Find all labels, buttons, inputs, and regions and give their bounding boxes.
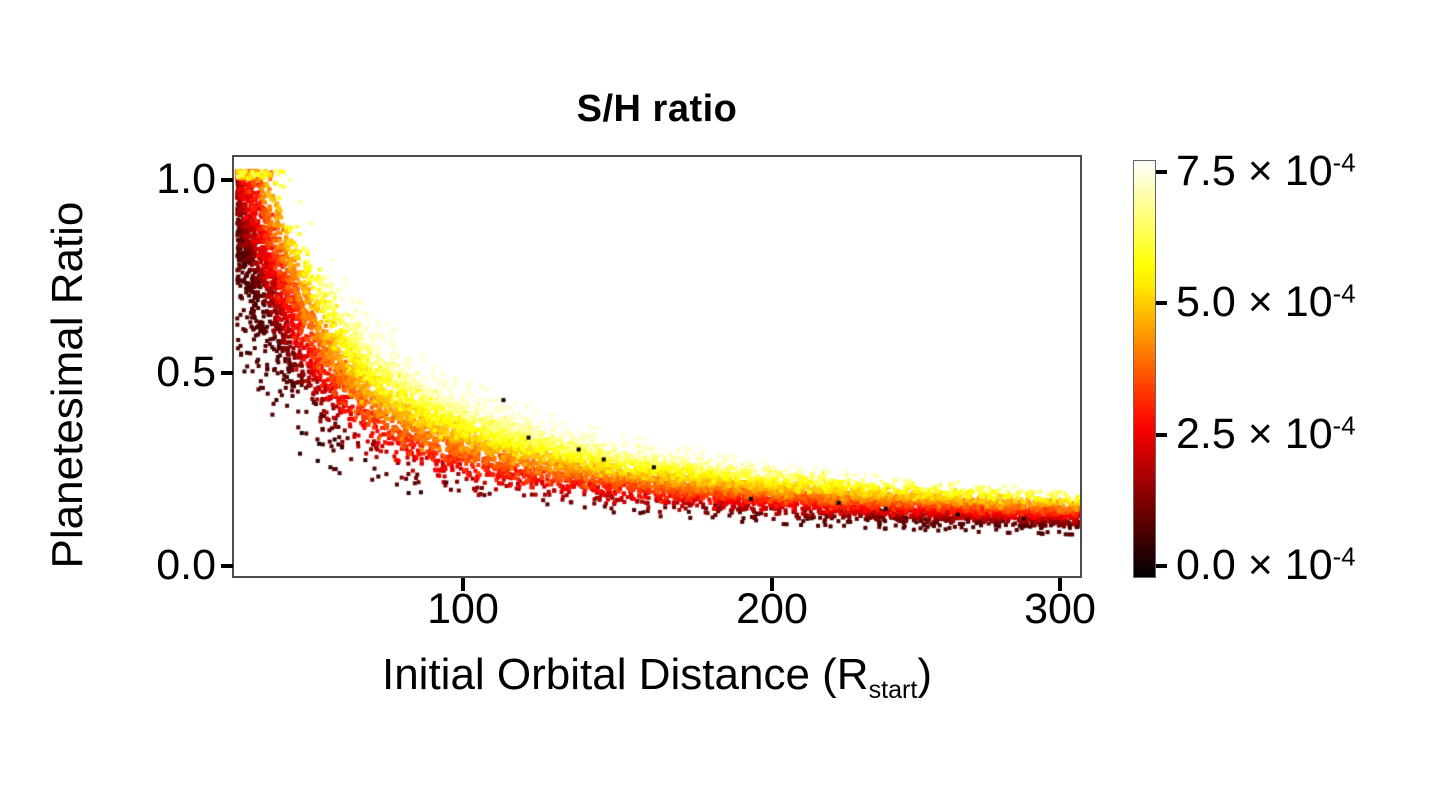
x-axis-label-subscript: start <box>869 676 918 704</box>
ytick-label-2: 0.5 <box>156 351 216 394</box>
colorbar-tick-label-4: 0.0 × 10-4 <box>1176 544 1356 587</box>
x-axis-label-main: Initial Orbital Distance (R <box>382 650 869 699</box>
page-title: S/H ratio <box>232 88 1082 131</box>
figure-canvas: S/H ratio 1.0 0.5 0.0 Planetesimal Ratio… <box>0 0 1440 810</box>
xtick-label-2: 200 <box>702 588 842 631</box>
colorbar-exponent-1: -4 <box>1333 150 1356 178</box>
colorbar-label-text-1: 7.5 × 10 <box>1176 147 1333 195</box>
scatter-plot-canvas <box>234 157 1080 576</box>
colorbar-exponent-4: -4 <box>1333 544 1356 572</box>
colorbar-tick-mark-1 <box>1156 170 1167 174</box>
ytick-label-3: 0.0 <box>156 544 216 587</box>
colorbar-gradient <box>1133 160 1156 578</box>
colorbar-label-text-2: 5.0 × 10 <box>1176 278 1333 326</box>
x-axis-label-tail: ) <box>917 650 932 699</box>
ytick-mark-1 <box>221 178 233 182</box>
xtick-label-1: 100 <box>393 588 533 631</box>
ytick-mark-3 <box>221 564 233 568</box>
colorbar-label-text-3: 2.5 × 10 <box>1176 410 1333 458</box>
colorbar-tick-mark-4 <box>1156 564 1167 568</box>
ytick-label-1: 1.0 <box>156 158 216 201</box>
colorbar <box>1133 160 1156 578</box>
colorbar-tick-label-3: 2.5 × 10-4 <box>1176 413 1356 456</box>
plot-axes-frame <box>232 155 1082 578</box>
colorbar-label-text-4: 0.0 × 10 <box>1176 541 1333 589</box>
colorbar-exponent-3: -4 <box>1333 413 1356 441</box>
ytick-mark-2 <box>221 371 233 375</box>
y-axis-label: Planetesimal Ratio <box>43 105 93 665</box>
colorbar-tick-label-1: 7.5 × 10-4 <box>1176 150 1356 193</box>
xtick-label-3: 300 <box>990 588 1130 631</box>
colorbar-exponent-2: -4 <box>1333 281 1356 309</box>
colorbar-tick-mark-2 <box>1156 301 1167 305</box>
colorbar-tick-label-2: 5.0 × 10-4 <box>1176 281 1356 324</box>
colorbar-tick-mark-3 <box>1156 433 1167 437</box>
x-axis-label: Initial Orbital Distance (Rstart) <box>232 650 1082 705</box>
